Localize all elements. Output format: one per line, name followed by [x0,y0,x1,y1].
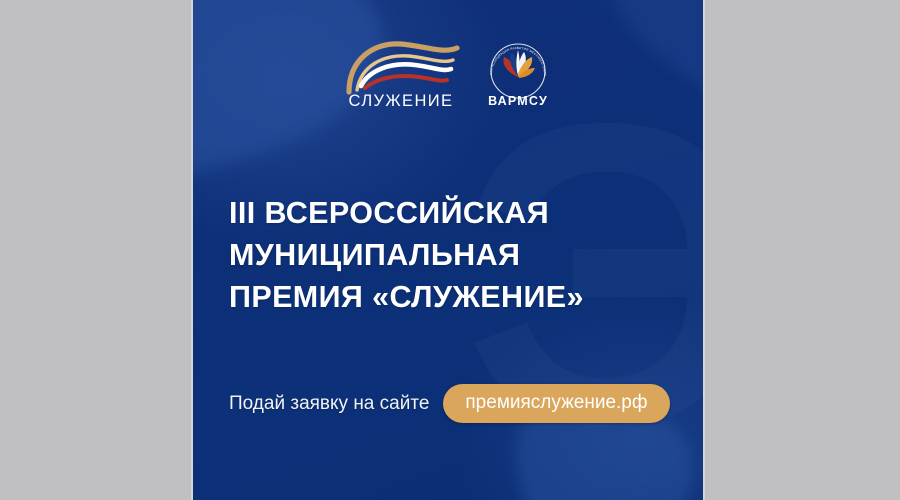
website-pill-button[interactable]: премияслужение.рф [443,384,669,423]
poster-screenshot: Э СЛУЖЕНИЕ [0,0,900,500]
page-title: III ВСЕРОССИЙСКАЯ МУНИЦИПАЛЬНАЯ ПРЕМИЯ «… [229,192,584,318]
logo-row: СЛУЖЕНИЕ ВСЕРОССИЙСКАЯ АССОЦИАЦИЯ РАЗВИТ… [193,34,703,111]
sluzhenie-logo: СЛУЖЕНИЕ [339,34,463,111]
cta-label: Подай заявку на сайте [229,393,429,415]
tricolor-swoosh-icon [339,34,463,96]
headline-line-2: МУНИЦИПАЛЬНАЯ [229,234,584,276]
varmsu-wordmark: ВАРМСУ [488,94,548,108]
poster-canvas: Э СЛУЖЕНИЕ [193,0,703,500]
letterbox-bar-left [0,0,193,500]
sluzhenie-wordmark: СЛУЖЕНИЕ [349,92,454,111]
headline-line-1: III ВСЕРОССИЙСКАЯ [229,192,584,234]
poster-edge-right [703,0,705,500]
poster-edge-left [191,0,193,500]
varmsu-logo: ВСЕРОССИЙСКАЯ АССОЦИАЦИЯ РАЗВИТИЯ МЕСТНО… [479,37,557,108]
letterbox-bar-right [703,0,900,500]
headline-line-3: ПРЕМИЯ «СЛУЖЕНИЕ» [229,276,584,318]
call-to-action: Подай заявку на сайте премияслужение.рф [229,384,670,423]
